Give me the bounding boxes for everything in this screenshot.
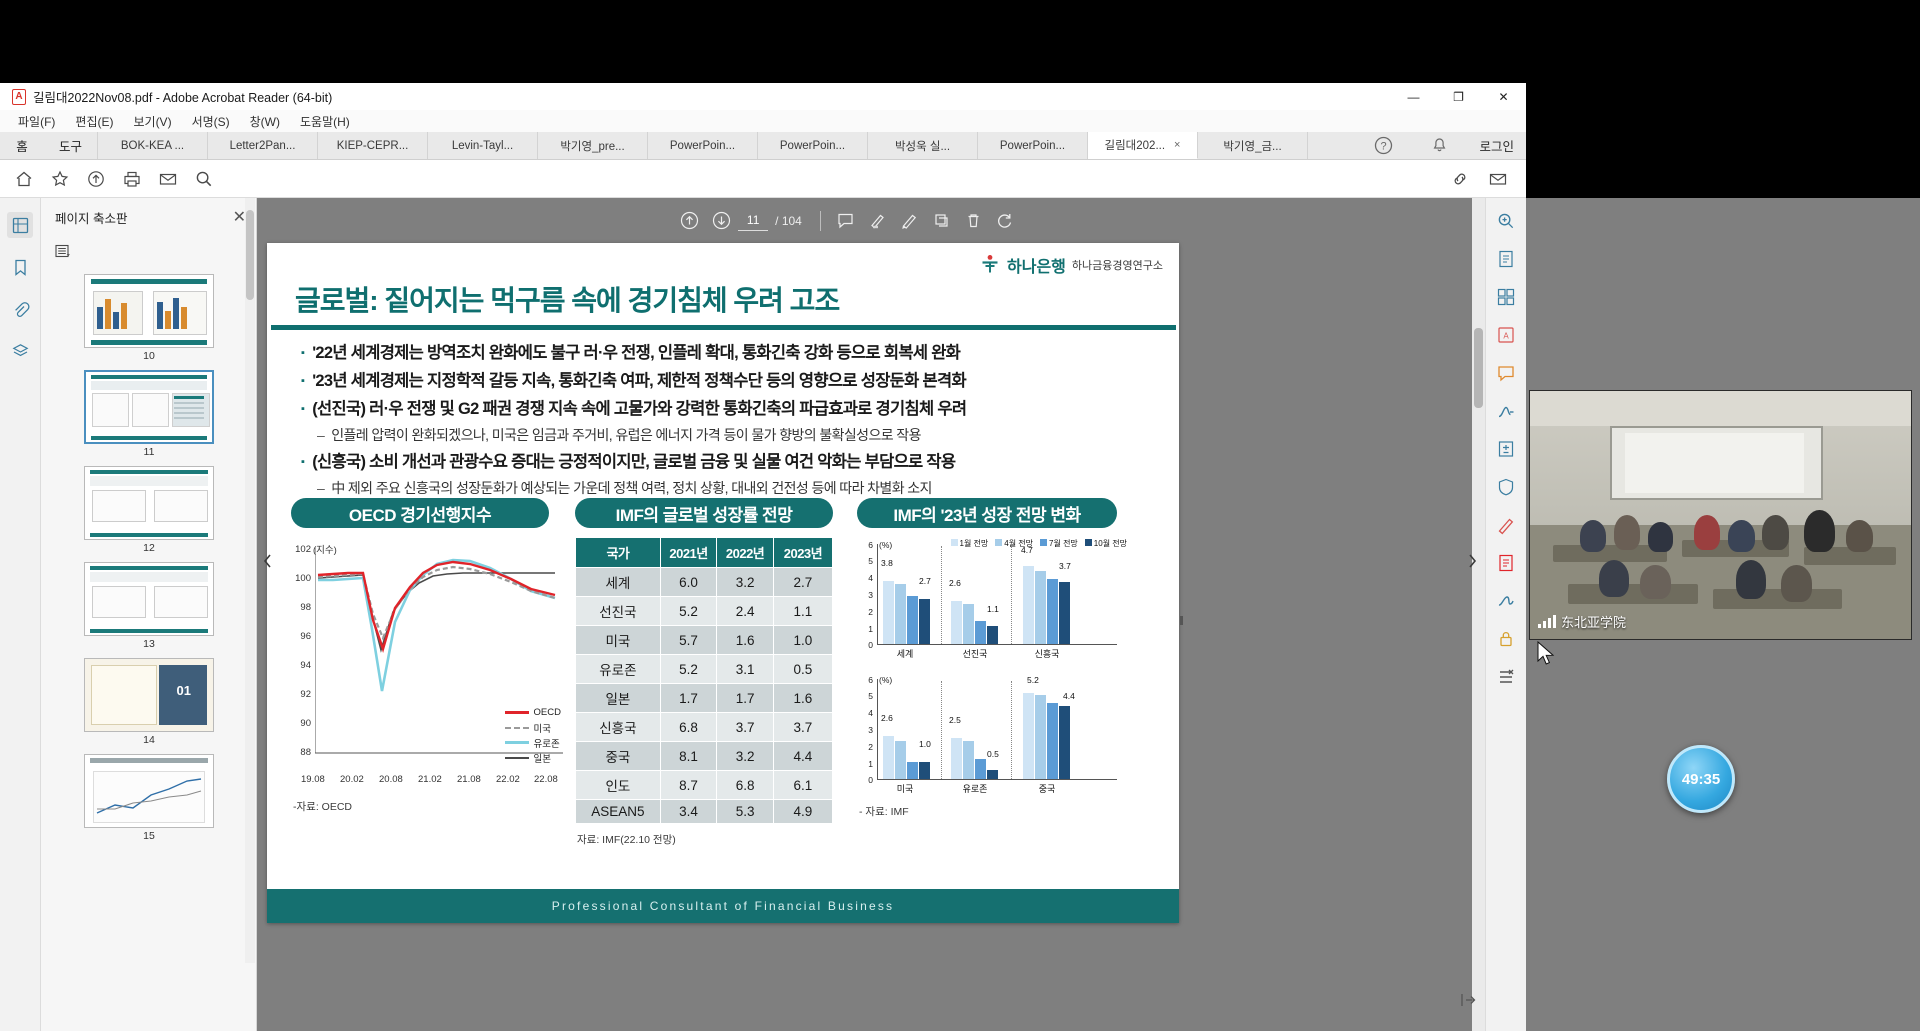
x-tick-6: 22.08 xyxy=(534,774,558,785)
edit-pdf-icon: A xyxy=(1496,325,1516,345)
bar-value-advanced-last: 1.1 xyxy=(987,604,999,614)
thumbnail-page-13[interactable]: 13 xyxy=(84,562,214,650)
cell-country: 신흥국 xyxy=(576,713,661,742)
y-tick-2: 2 xyxy=(857,742,873,752)
hana-mark-icon xyxy=(979,254,1001,276)
cell-2023: 1.1 xyxy=(773,597,832,626)
legend-swatch xyxy=(995,539,1002,546)
layers-button[interactable] xyxy=(7,338,33,364)
page-tool-button[interactable] xyxy=(1493,550,1519,576)
x-axis-line xyxy=(877,644,1117,645)
cell-2022: 5.3 xyxy=(717,800,774,824)
table-row: 인도8.76.86.1 xyxy=(576,771,833,800)
legend-label: 일본 xyxy=(534,751,551,765)
previous-page-button[interactable] xyxy=(674,206,704,236)
export-pdf-button[interactable] xyxy=(1493,246,1519,272)
page-total: / 104 xyxy=(775,214,802,228)
bookmarks-button[interactable] xyxy=(7,254,33,280)
edit-pdf-button[interactable]: A xyxy=(1493,322,1519,348)
cell-2021: 5.2 xyxy=(660,597,717,626)
cell-2023: 1.6 xyxy=(773,684,832,713)
attendee xyxy=(1599,560,1629,597)
cell-country: 유로존 xyxy=(576,655,661,684)
bar-oct xyxy=(987,770,998,779)
menu-bar: 파일(F) 편집(E) 보기(V) 서명(S) 창(W) 도움말(H) xyxy=(0,110,1526,132)
sign-button[interactable] xyxy=(1493,588,1519,614)
search-button[interactable] xyxy=(186,161,222,197)
legend-swatch xyxy=(1085,539,1092,546)
cell-2022: 3.7 xyxy=(717,713,774,742)
tab-levin-taylor[interactable]: Levin-Tayl... xyxy=(428,132,538,159)
help-icon: ? xyxy=(1374,136,1393,155)
attendee xyxy=(1694,515,1721,550)
thumbnail-image: 01 xyxy=(84,658,214,732)
left-tool-rail xyxy=(0,198,41,1031)
thumbnail-label: 14 xyxy=(84,734,214,746)
imf-revision-panel: IMF의 '23년 성장 전망 변화 (%) 6 5 4 3 2 1 xyxy=(857,498,1137,819)
tab-label: Levin-Tayl... xyxy=(452,140,513,152)
collapse-right-icon xyxy=(1458,990,1478,1010)
bookmarks-icon xyxy=(11,258,30,277)
pdf-page[interactable]: 하나은행 하나금융경영연구소 글로벌: 짙어지는 먹구름 속에 경기침체 우려 … xyxy=(267,243,1179,923)
y-tick-6: 6 xyxy=(857,540,873,550)
thumbnail-options-button[interactable] xyxy=(41,236,256,266)
group-divider xyxy=(941,681,942,779)
fill-sign-icon xyxy=(1496,401,1516,421)
minimize-button[interactable]: — xyxy=(1391,83,1436,110)
home-button[interactable] xyxy=(6,161,42,197)
bar-jul xyxy=(975,621,986,644)
y-tick-5: 5 xyxy=(857,556,873,566)
x-tick-5: 22.02 xyxy=(496,774,520,785)
bar-apr xyxy=(1035,695,1046,779)
expand-right-button[interactable] xyxy=(1466,553,1478,574)
table-row: 미국5.71.61.0 xyxy=(576,626,833,655)
tab-parkgiyoung-geum[interactable]: 박기영_금... xyxy=(1198,132,1308,159)
document-scrollbar[interactable] xyxy=(1472,198,1485,1031)
cell-2021: 5.2 xyxy=(660,655,717,684)
y-tick-4: 4 xyxy=(857,708,873,718)
cell-2022: 2.4 xyxy=(717,597,774,626)
cell-2023: 0.5 xyxy=(773,655,832,684)
stamp-button[interactable] xyxy=(927,206,957,236)
legend-label: 10월 전망 xyxy=(1094,539,1127,548)
imf-revision-source: - 자료: IMF xyxy=(859,804,1137,819)
y-tick-1: 1 xyxy=(857,624,873,634)
link-button[interactable] xyxy=(1442,161,1478,197)
command-bar xyxy=(0,160,1526,198)
bullet-marker: ▪ xyxy=(301,395,304,423)
tab-close-icon[interactable]: × xyxy=(1174,139,1180,151)
bar-jan xyxy=(1023,693,1034,779)
cell-2022: 3.2 xyxy=(717,742,774,771)
bar-oct xyxy=(1059,706,1070,779)
prev-page-icon xyxy=(679,210,700,231)
sign-icon xyxy=(1496,591,1516,611)
draw-button[interactable] xyxy=(895,206,925,236)
thumbnail-panel-close-icon[interactable]: ✕ xyxy=(233,207,246,227)
legend-label: 7월 전망 xyxy=(1049,539,1078,548)
add-favorite-button[interactable] xyxy=(42,161,78,197)
table-row: 유로존5.23.10.5 xyxy=(576,655,833,684)
legend-swatch xyxy=(505,757,529,759)
next-page-button[interactable] xyxy=(706,206,736,236)
cell-country: 선진국 xyxy=(576,597,661,626)
thumbnail-label: 13 xyxy=(84,638,214,650)
thumbnail-label: 12 xyxy=(84,542,214,554)
bullet-text: '22년 세계경제는 방역조치 완화에도 불구 러·우 전쟁, 인플레 확대, … xyxy=(312,339,960,367)
home-icon xyxy=(14,169,34,189)
tab-powerpoint-2[interactable]: PowerPoin... xyxy=(758,132,868,159)
svg-text:?: ? xyxy=(1380,141,1386,153)
attendee xyxy=(1736,560,1766,600)
tab-label: 박기영_금... xyxy=(1223,138,1281,154)
cell-country: 미국 xyxy=(576,626,661,655)
page-number-input[interactable]: 11 xyxy=(738,211,768,231)
imf-revision-chart-bottom: (%) 6 5 4 3 2 1 0 xyxy=(857,673,1129,798)
bar-value-emerging-last: 3.7 xyxy=(1059,561,1071,571)
y-tick-6: 6 xyxy=(857,675,873,685)
thumbnail-page-12[interactable]: 12 xyxy=(84,466,214,554)
share-button[interactable] xyxy=(78,161,114,197)
compress-button[interactable] xyxy=(1493,436,1519,462)
window-controls: — ❐ ✕ xyxy=(1391,83,1526,110)
menu-sign[interactable]: 서명(S) xyxy=(182,111,240,132)
video-caption-text: 东北亚学院 xyxy=(1561,612,1626,631)
slide-footer: Professional Consultant of Financial Bus… xyxy=(267,889,1179,923)
tab-label: 박성욱 실... xyxy=(895,138,950,154)
hana-logo: 하나은행 하나금융경영연구소 xyxy=(979,253,1163,277)
table-row: 중국8.13.24.4 xyxy=(576,742,833,771)
bar-apr xyxy=(963,741,974,779)
tab-parkgiyoung-pre[interactable]: 박기영_pre... xyxy=(538,132,648,159)
tab-label: Letter2Pan... xyxy=(230,140,296,152)
legend-entry-jul: 7월 전망 xyxy=(1040,538,1078,549)
y-tick-3: 3 xyxy=(857,590,873,600)
cell-2021: 6.0 xyxy=(660,568,717,597)
cell-2023: 4.4 xyxy=(773,742,832,771)
tab-letter2pan[interactable]: Letter2Pan... xyxy=(208,132,318,159)
collapse-left-button[interactable] xyxy=(262,553,274,574)
search-icon xyxy=(194,169,214,189)
organize-pages-button[interactable] xyxy=(1493,284,1519,310)
bullet-text: 인플레 압력이 완화되겠으나, 미국은 임금과 주거비, 유럽은 에너지 가격 … xyxy=(331,423,921,448)
tab-gillimdae-2022[interactable]: 길림대202... × xyxy=(1088,132,1198,159)
delete-button[interactable] xyxy=(959,206,989,236)
bar-value-eurozone-first: 2.5 xyxy=(949,715,961,725)
tab-label: PowerPoin... xyxy=(670,140,735,152)
organize-pages-icon xyxy=(1496,287,1516,307)
attachments-icon xyxy=(11,300,30,319)
y-axis-unit: (%) xyxy=(879,675,892,685)
upload-icon xyxy=(86,169,106,189)
cell-2021: 8.1 xyxy=(660,742,717,771)
y-axis-unit: (%) xyxy=(879,540,892,550)
bullet-item: ▪'23년 세계경제는 지정학적 갈등 지속, 통화긴축 여파, 제한적 정책수… xyxy=(301,367,1171,395)
video-conference-tile[interactable]: 东北亚学院 xyxy=(1529,390,1912,640)
attendee xyxy=(1804,510,1834,552)
y-tick-96: 96 xyxy=(291,631,311,642)
compress-icon xyxy=(1496,439,1516,459)
star-icon xyxy=(50,169,70,189)
comment-icon xyxy=(836,211,855,230)
legend-label: 유로존 xyxy=(534,736,560,750)
col-2023: 2023년 xyxy=(773,538,832,568)
thumbnail-panel-title: 페이지 축소판 xyxy=(55,208,127,227)
pen-tool-button[interactable] xyxy=(1493,512,1519,538)
bar-group-china xyxy=(1023,693,1070,779)
menu-view[interactable]: 보기(V) xyxy=(123,111,181,132)
help-button[interactable]: ? xyxy=(1355,132,1411,159)
link-icon xyxy=(1450,169,1470,189)
thumbnail-options-icon xyxy=(55,244,72,259)
bullet-text: (선진국) 러·우 전쟁 및 G2 패권 경쟁 지속 속에 고물가와 강력한 통… xyxy=(312,395,966,423)
timer-value: 49:35 xyxy=(1682,771,1720,788)
slide-title: 글로벌: 짙어지는 먹구름 속에 경기침체 우려 고조 xyxy=(295,279,839,319)
maximize-button[interactable]: ❐ xyxy=(1436,83,1481,110)
cell-2022: 1.7 xyxy=(717,684,774,713)
bar-jan xyxy=(951,601,962,644)
highlight-button[interactable] xyxy=(863,206,893,236)
bar-group-label-advanced: 선진국 xyxy=(947,647,1003,660)
envelope-icon xyxy=(158,169,178,189)
y-tick-98: 98 xyxy=(291,602,311,613)
bar-jul xyxy=(975,759,986,779)
layers-icon xyxy=(11,342,30,361)
imf-revision-chart-top: (%) 6 5 4 3 2 1 0 1월 전망 xyxy=(857,538,1129,663)
logo-brand: 하나은행 xyxy=(1007,253,1066,277)
legend-swatch xyxy=(505,727,529,729)
legend-entry-japan: 일본 xyxy=(505,750,561,765)
cell-2023: 2.7 xyxy=(773,568,832,597)
bar-group-label-emerging: 신흥국 xyxy=(1019,647,1075,660)
search-zoom-button[interactable] xyxy=(1493,208,1519,234)
desk xyxy=(1713,589,1843,609)
bullet-marker: ▪ xyxy=(301,367,304,395)
thumbnail-page-11[interactable]: 11 xyxy=(84,370,214,458)
collapse-pane-button[interactable] xyxy=(1458,990,1478,1015)
cell-2023: 4.9 xyxy=(773,800,832,824)
bar-value-us-first: 2.6 xyxy=(881,713,893,723)
attendee xyxy=(1614,515,1641,550)
bullet-marker: – xyxy=(317,423,324,448)
bullet-text: (신흥국) 소비 개선과 관광수요 증대는 긍정적이지만, 글로벌 금융 및 실… xyxy=(312,448,955,476)
bar-value-world-first: 3.8 xyxy=(881,558,893,568)
tab-powerpoint-1[interactable]: PowerPoin... xyxy=(648,132,758,159)
chevron-right-icon xyxy=(1466,553,1478,569)
cell-country: 세계 xyxy=(576,568,661,597)
y-axis-line xyxy=(877,544,878,644)
bar-value-world-last: 2.7 xyxy=(919,576,931,586)
tab-label: PowerPoin... xyxy=(1000,140,1065,152)
title-rule xyxy=(271,325,1176,330)
scene-projection-screen xyxy=(1625,433,1804,493)
y-tick-4: 4 xyxy=(857,573,873,583)
signal-bars-icon xyxy=(1538,615,1556,628)
x-axis-line xyxy=(877,779,1117,780)
cell-2022: 6.8 xyxy=(717,771,774,800)
imf-table-source: 자료: IMF(22.10 전망) xyxy=(577,832,837,847)
attendee xyxy=(1762,515,1789,550)
group-divider xyxy=(941,546,942,644)
imf-revision-legend: 1월 전망 4월 전망 7월 전망 10월 전망 xyxy=(951,538,1128,549)
more-tools-button[interactable] xyxy=(1493,664,1519,690)
group-divider xyxy=(1011,546,1012,644)
page-thumbnails-icon xyxy=(11,216,30,235)
legend-label: 1월 전망 xyxy=(960,539,989,548)
undo-icon xyxy=(996,211,1015,230)
thumbnail-image xyxy=(84,754,214,828)
tab-label: 박기영_pre... xyxy=(560,138,624,154)
bar-group-emerging xyxy=(1023,566,1070,644)
imf-revision-title: IMF의 '23년 성장 전망 변화 xyxy=(857,498,1117,528)
draw-icon xyxy=(900,211,919,230)
title-bar: 길림대2022Nov08.pdf - Adobe Acrobat Reader … xyxy=(0,83,1526,110)
oecd-chart-source: -자료: OECD xyxy=(293,799,569,814)
bar-oct xyxy=(919,762,930,779)
oecd-chart-title: OECD 경기선행지수 xyxy=(291,498,549,528)
cell-2023: 1.0 xyxy=(773,626,832,655)
session-timer[interactable]: 49:35 xyxy=(1667,745,1735,813)
oecd-chart-plot: 102 100 98 96 94 92 90 88 (지수) xyxy=(291,538,569,793)
legend-entry-jan: 1월 전망 xyxy=(951,538,989,549)
notifications-button[interactable] xyxy=(1411,132,1467,159)
login-button[interactable]: 로그인 xyxy=(1467,132,1526,159)
bar-jan xyxy=(883,736,894,779)
cell-country: ASEAN5 xyxy=(576,800,661,824)
bar-jul xyxy=(1047,579,1058,644)
bar-jul xyxy=(907,762,918,779)
bar-value-emerging-first: 4.7 xyxy=(1021,545,1033,555)
thumbnail-label: 11 xyxy=(84,446,214,458)
print-icon xyxy=(122,169,142,189)
tab-bok-kea[interactable]: BOK-KEA ... xyxy=(98,132,208,159)
bar-jul xyxy=(1047,703,1058,779)
legend-entry-oecd: OECD xyxy=(505,705,561,720)
lock-icon xyxy=(1496,629,1516,649)
pen-icon xyxy=(1496,515,1516,535)
protect-icon xyxy=(1496,477,1516,497)
comment-tool-button[interactable] xyxy=(1493,360,1519,386)
cell-country: 일본 xyxy=(576,684,661,713)
thumbnail-page-14[interactable]: 01 14 xyxy=(84,658,214,746)
menu-edit[interactable]: 편집(E) xyxy=(65,111,123,132)
menu-window[interactable]: 창(W) xyxy=(240,111,290,132)
right-tool-rail: A xyxy=(1485,198,1526,1031)
add-comment-button[interactable] xyxy=(831,206,861,236)
bar-oct xyxy=(919,599,930,644)
bar-value-china-last: 4.4 xyxy=(1063,691,1075,701)
bar-jan xyxy=(1023,566,1034,644)
acrobat-app-icon xyxy=(12,89,26,105)
table-header-row: 국가 2021년 2022년 2023년 xyxy=(576,538,833,568)
thumbnail-scrollbar[interactable] xyxy=(245,198,255,963)
x-tick-2: 20.08 xyxy=(379,774,403,785)
y-tick-1: 1 xyxy=(857,759,873,769)
document-scrollbar-thumb[interactable] xyxy=(1474,328,1483,408)
lock-button[interactable] xyxy=(1493,626,1519,652)
bar-group-label-us: 미국 xyxy=(879,782,931,795)
menu-help[interactable]: 도움말(H) xyxy=(290,111,360,132)
cell-2021: 8.7 xyxy=(660,771,717,800)
y-tick-100: 100 xyxy=(291,573,311,584)
print-button[interactable] xyxy=(114,161,150,197)
tab-label: 길림대202... xyxy=(1105,137,1166,153)
page-thumbnail-panel: 페이지 축소판 ✕ xyxy=(41,198,257,1031)
bar-value-us-last: 1.0 xyxy=(919,739,931,749)
page-total-value: 104 xyxy=(782,214,802,228)
attendee xyxy=(1648,522,1673,552)
menu-file[interactable]: 파일(F) xyxy=(8,111,65,132)
cell-2023: 6.1 xyxy=(773,771,832,800)
tab-label: PowerPoin... xyxy=(780,140,845,152)
attachments-button[interactable] xyxy=(7,296,33,322)
undo-button[interactable] xyxy=(991,206,1021,236)
tab-powerpoint-3[interactable]: PowerPoin... xyxy=(978,132,1088,159)
next-page-icon xyxy=(711,210,732,231)
x-tick-1: 20.02 xyxy=(340,774,364,785)
toolbar-divider xyxy=(820,211,821,231)
bar-apr xyxy=(1035,571,1046,644)
mail-button[interactable] xyxy=(1480,161,1516,197)
tab-parksungwook[interactable]: 박성욱 실... xyxy=(868,132,978,159)
y-tick-5: 5 xyxy=(857,691,873,701)
tab-tools[interactable]: 도구 xyxy=(44,132,98,159)
page-separator: / xyxy=(775,214,778,228)
close-button[interactable]: ✕ xyxy=(1481,83,1526,110)
bar-value-advanced-first: 2.6 xyxy=(949,578,961,588)
tab-label: BOK-KEA ... xyxy=(121,140,184,152)
legend-entry-oct: 10월 전망 xyxy=(1085,538,1127,549)
login-label: 로그인 xyxy=(1479,136,1514,155)
thumbnail-page-10[interactable]: 10 xyxy=(84,274,214,362)
protect-button[interactable] xyxy=(1493,474,1519,500)
tab-kiep-cepr[interactable]: KIEP-CEPR... xyxy=(318,132,428,159)
cell-2021: 6.8 xyxy=(660,713,717,742)
group-divider xyxy=(1011,681,1012,779)
fill-sign-button[interactable] xyxy=(1493,398,1519,424)
oecd-chart-panel: OECD 경기선행지수 102 100 98 96 94 92 90 88 (지… xyxy=(291,498,569,814)
email-button[interactable] xyxy=(150,161,186,197)
slide-content: 하나은행 하나금융경영연구소 글로벌: 짙어지는 먹구름 속에 경기침체 우려 … xyxy=(267,243,1179,923)
cell-2022: 1.6 xyxy=(717,626,774,655)
thumbnail-panel-header: 페이지 축소판 ✕ xyxy=(41,198,256,236)
cell-country: 중국 xyxy=(576,742,661,771)
page-thumbnails-button[interactable] xyxy=(7,212,33,238)
thumbnail-page-15[interactable]: 15 xyxy=(84,754,214,842)
bar-jul xyxy=(907,596,918,644)
y-tick-94: 94 xyxy=(291,660,311,671)
thumbnail-label: 10 xyxy=(84,350,214,362)
bar-group-label-china: 중국 xyxy=(1019,782,1075,795)
tab-home[interactable]: 홈 xyxy=(0,132,44,159)
imf-table-panel: IMF의 글로벌 성장률 전망 국가 2021년 2022년 2023년 xyxy=(575,498,837,847)
thumbnail-list[interactable]: 10 xyxy=(41,266,257,1031)
cell-country: 인도 xyxy=(576,771,661,800)
bar-apr xyxy=(895,584,906,644)
bar-jan xyxy=(883,581,894,644)
table-row: 일본1.71.71.6 xyxy=(576,684,833,713)
bar-value-eurozone-last: 0.5 xyxy=(987,749,999,759)
bullet-item: ▪'22년 세계경제는 방역조치 완화에도 불구 러·우 전쟁, 인플레 확대,… xyxy=(301,339,1171,367)
tab-label: KIEP-CEPR... xyxy=(337,140,409,152)
bullet-item: ▪(선진국) 러·우 전쟁 및 G2 패권 경쟁 지속 속에 고물가와 강력한 … xyxy=(301,395,1171,423)
thumbnail-image xyxy=(84,466,214,540)
thumbnail-scrollbar-thumb[interactable] xyxy=(246,210,254,300)
col-2022: 2022년 xyxy=(717,538,774,568)
legend-swatch xyxy=(505,711,529,714)
legend-entry-us: 미국 xyxy=(505,720,561,735)
